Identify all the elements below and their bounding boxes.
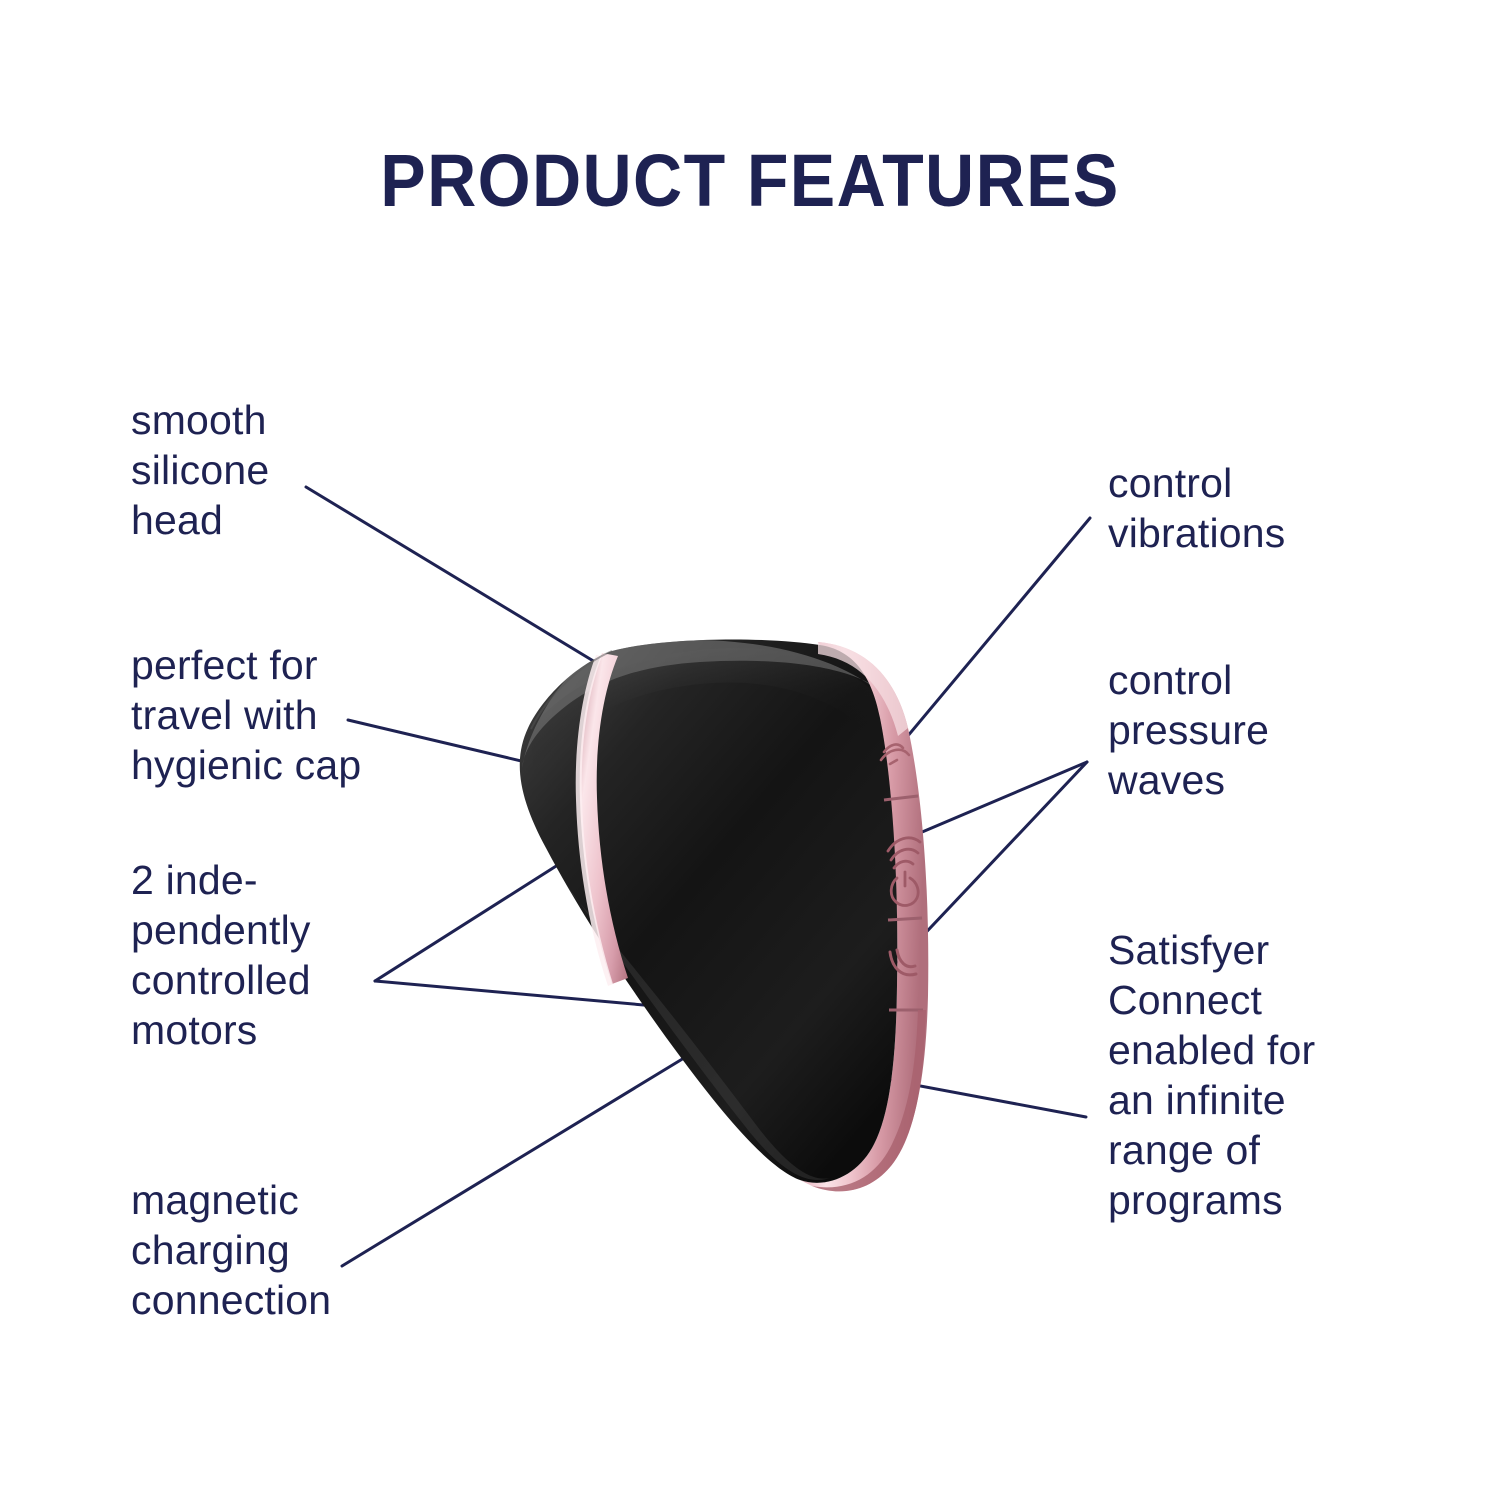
leader-pressure-branch-upper [908, 762, 1087, 838]
callout-satisfyer-connect: Satisfyer Connect enabled for an infinit… [1108, 925, 1448, 1225]
product-lower-reflection [560, 880, 830, 1180]
page-title: PRODUCT FEATURES [60, 138, 1440, 223]
product-side-rail [800, 642, 928, 1191]
power-waves-icon [888, 838, 920, 906]
leader-satisfyer-connect [851, 1073, 1086, 1117]
button-divider-2 [888, 918, 922, 920]
product-rail-top-highlight [818, 642, 908, 736]
callout-two-independent-motors: 2 inde- pendently controlled motors [131, 855, 461, 1055]
wave-arc-icon [890, 950, 916, 975]
product-rail-bottom-shadow [812, 1010, 926, 1191]
product-band-highlight [576, 655, 613, 986]
callout-control-vibrations: control vibrations [1108, 458, 1458, 558]
product-side-rail-back [820, 645, 918, 1184]
product-cap-seam [531, 651, 612, 729]
callout-travel-hygienic-cap: perfect for travel with hygienic cap [131, 640, 471, 790]
button-divider-1 [884, 796, 918, 800]
callout-magnetic-charging: magnetic charging connection [131, 1175, 461, 1325]
product-body-group [520, 639, 929, 1191]
leader-control-vibrations [886, 518, 1090, 762]
callout-smooth-silicone-head: smooth silicone head [131, 395, 461, 545]
vibration-waves-icon [881, 745, 909, 764]
pressure-wave-button[interactable] [890, 950, 916, 975]
product-silicone-body [520, 639, 898, 1182]
callout-control-pressure-waves: control pressure waves [1108, 655, 1438, 805]
product-upper-highlight [530, 648, 895, 774]
product-features-infographic: { "page": { "title": "PRODUCT FEATURES",… [0, 0, 1500, 1500]
vibration-button[interactable] [881, 745, 909, 764]
leader-pressure-branch-lower [898, 762, 1087, 962]
power-pressure-button[interactable] [888, 838, 920, 906]
product-top-sheen [522, 640, 890, 768]
product-control-panel[interactable] [881, 745, 923, 1010]
product-rose-gold-band [580, 653, 628, 984]
